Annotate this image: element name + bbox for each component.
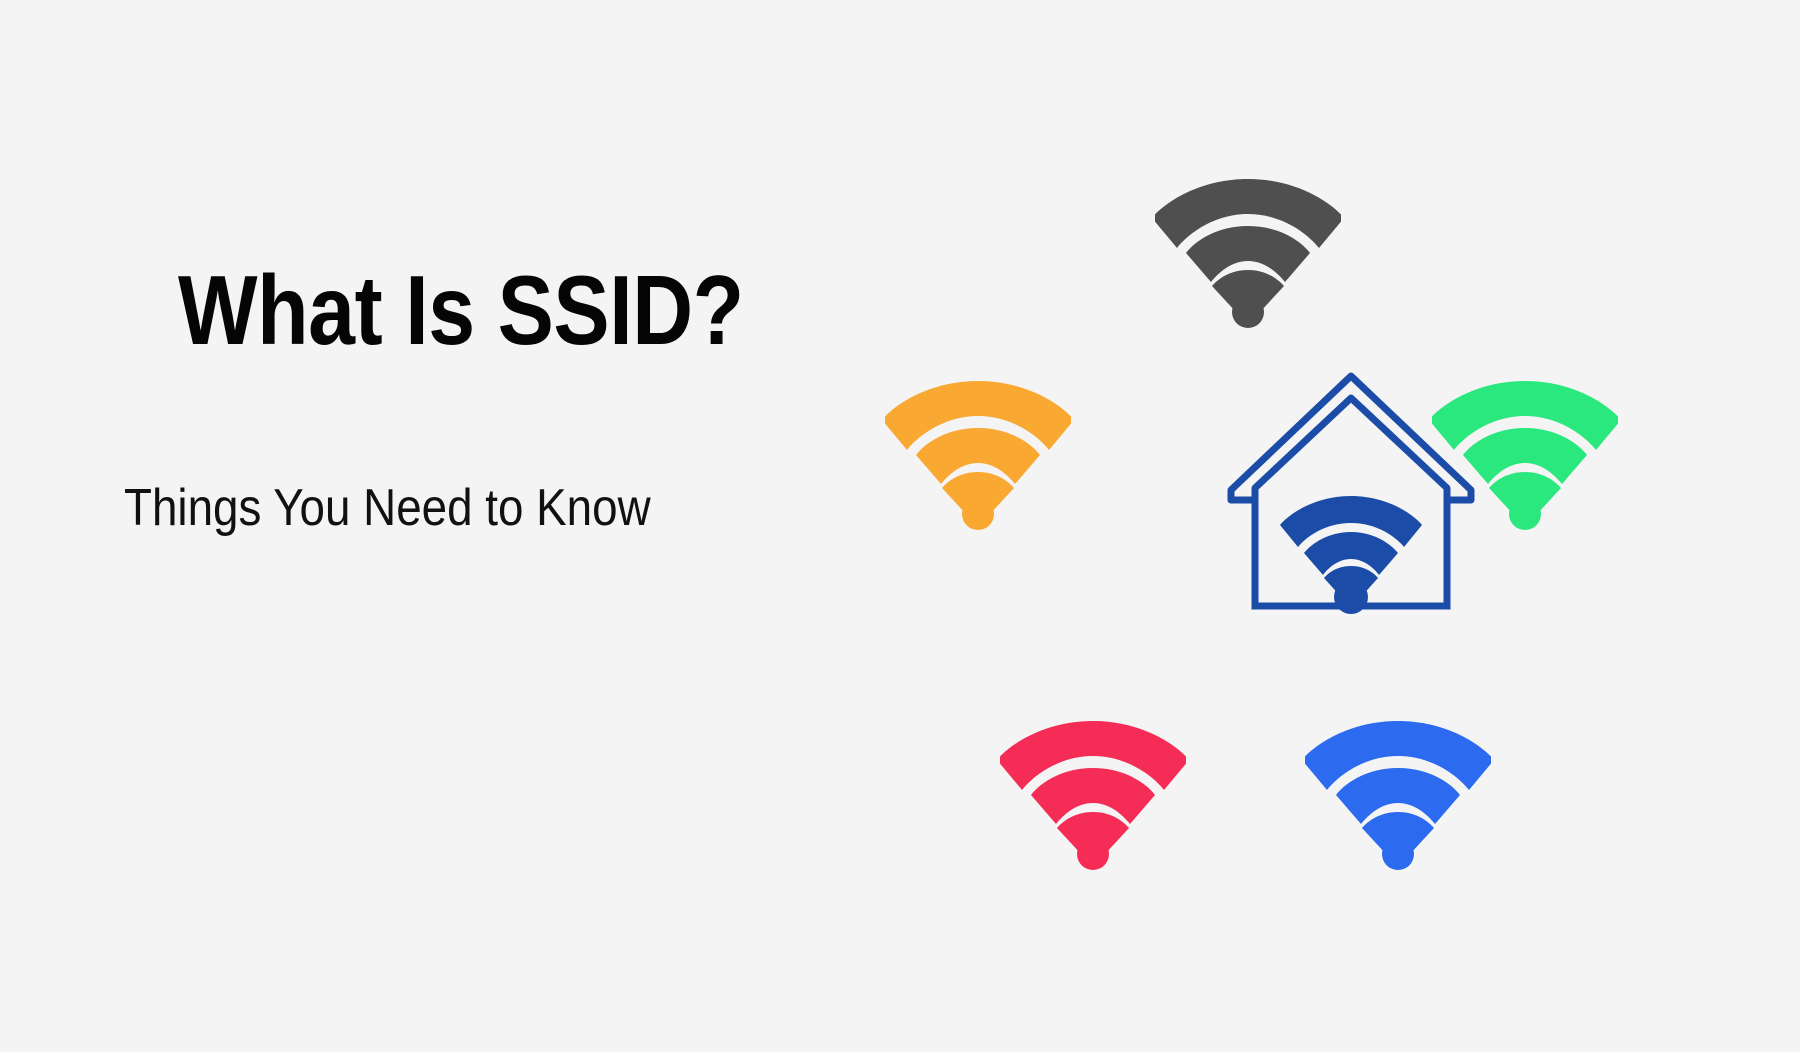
house-wifi-icon — [1225, 368, 1477, 616]
wifi-icon-pink — [1000, 702, 1186, 870]
page-title: What Is SSID? — [178, 252, 744, 370]
slide-canvas: What Is SSID? Things You Need to Know — [0, 0, 1800, 1052]
page-subtitle: Things You Need to Know — [124, 477, 651, 539]
wifi-icon-gray — [1155, 160, 1341, 328]
wifi-icon-orange — [885, 362, 1071, 530]
wifi-network-illustration — [900, 0, 1800, 1052]
text-block: What Is SSID? Things You Need to Know — [0, 0, 900, 1052]
wifi-icon-blue — [1305, 702, 1491, 870]
